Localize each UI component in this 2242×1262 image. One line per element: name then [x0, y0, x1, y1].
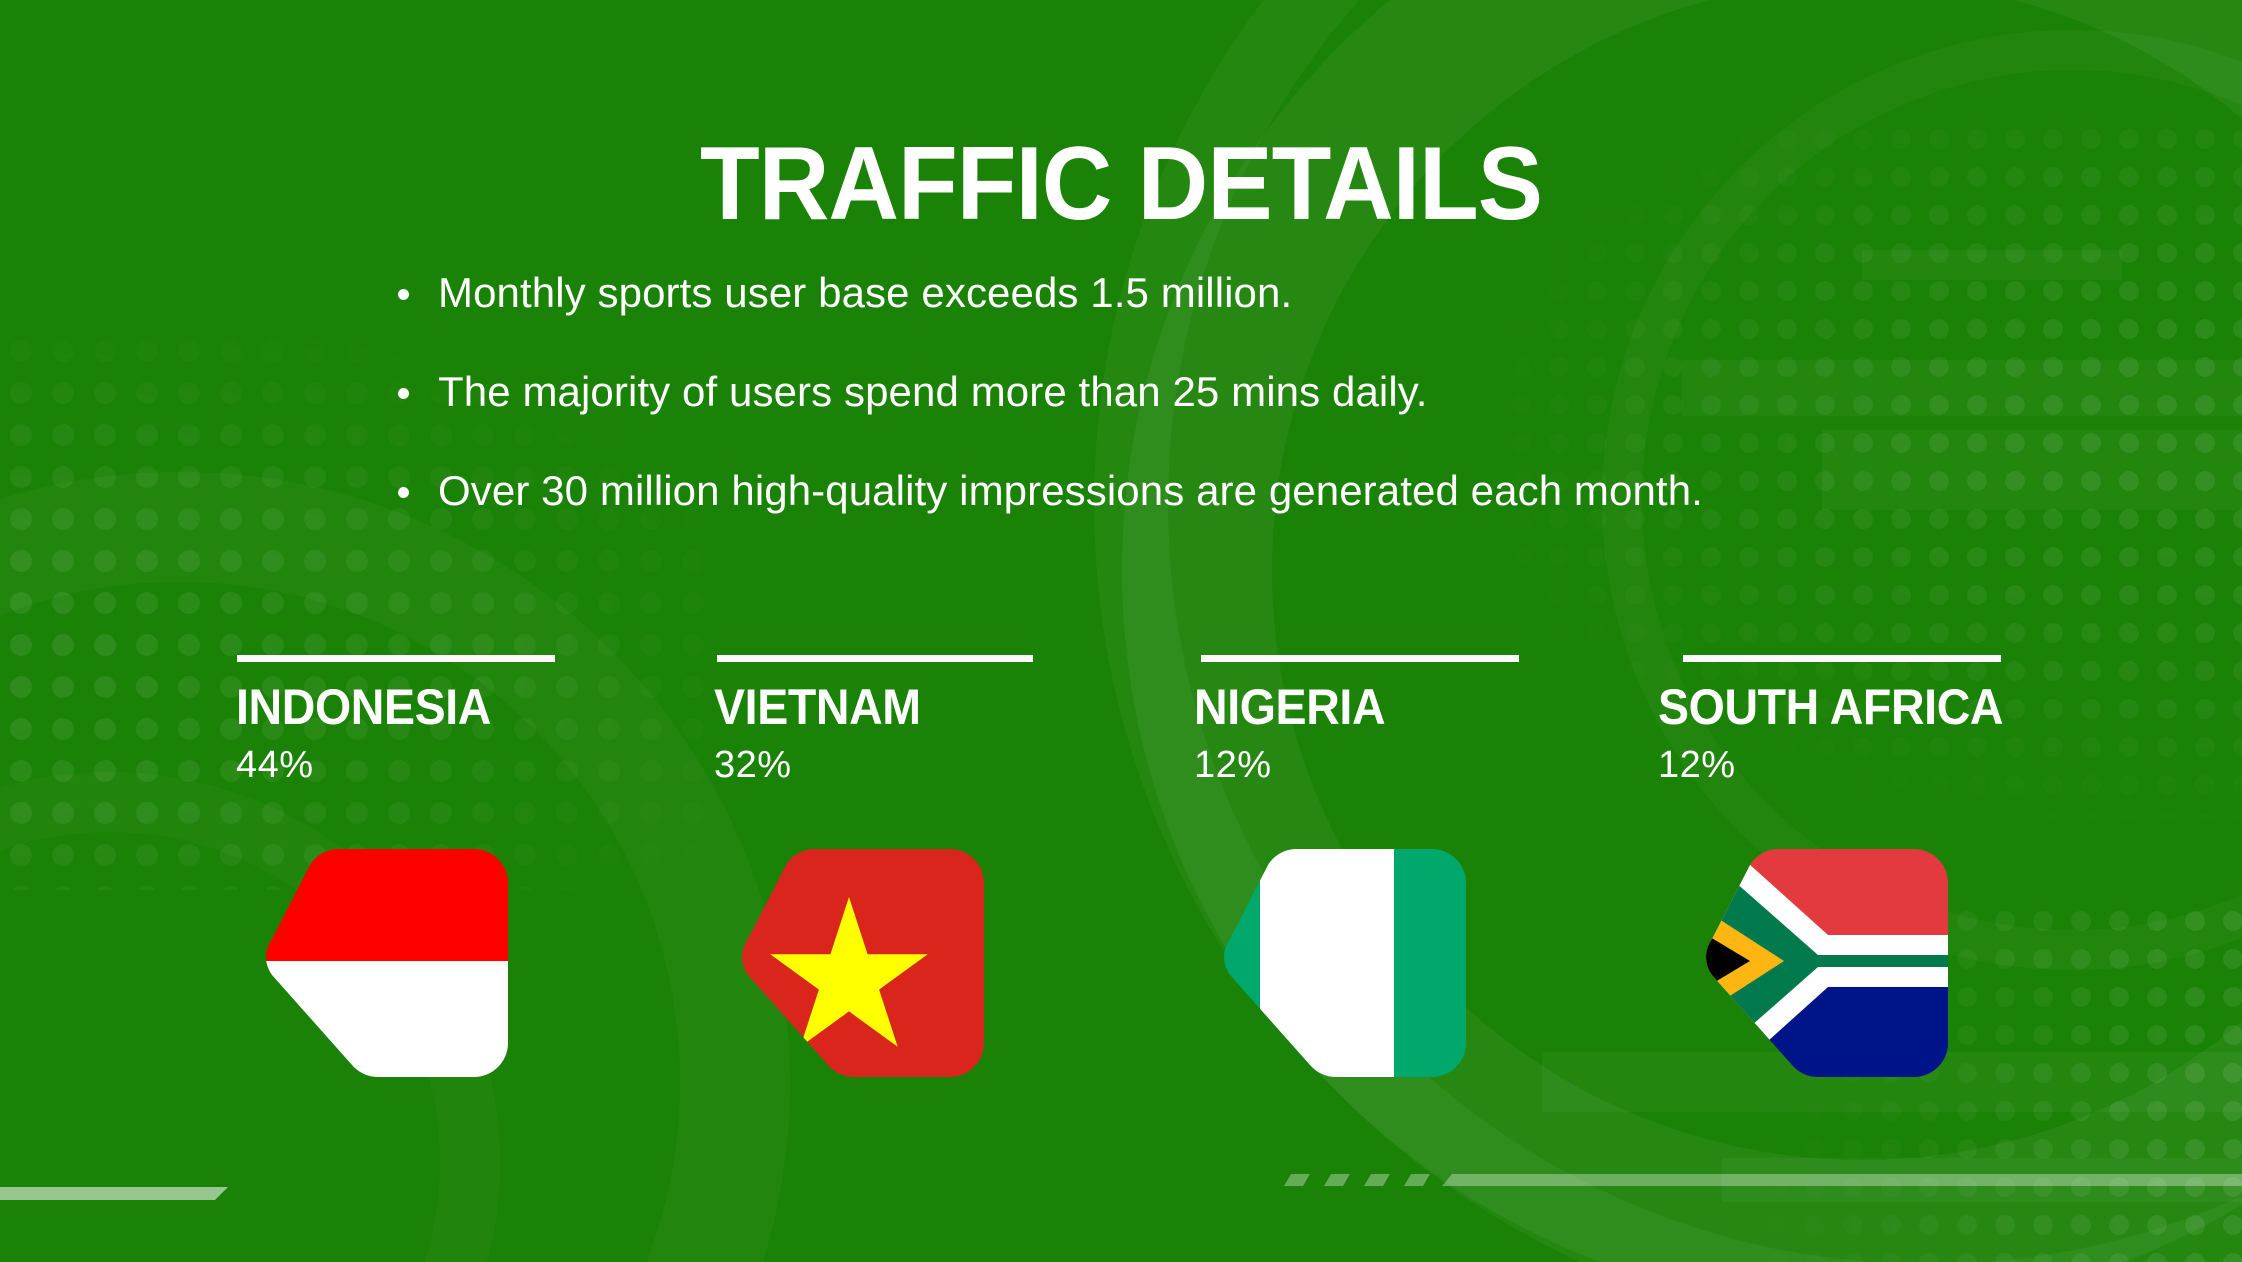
country-stat-indonesia: INDONESIA 44%: [236, 655, 706, 784]
slide-canvas: TRAFFIC DETAILS Monthly sports user base…: [0, 0, 2242, 1262]
list-item: The majority of users spend more than 25…: [392, 371, 1952, 413]
country-stat-south-africa: SOUTH AFRICA 12%: [1658, 655, 2128, 784]
list-item: Over 30 million high-quality impressions…: [392, 470, 1952, 512]
country-name: INDONESIA: [236, 682, 673, 732]
country-divider-rule: [1683, 655, 2001, 662]
country-divider-rule: [237, 655, 555, 662]
flag-nigeria-icon: [1218, 845, 1466, 1077]
page-title: TRAFFIC DETAILS: [67, 132, 2174, 236]
bullet-list: Monthly sports user base exceeds 1.5 mil…: [392, 272, 1952, 569]
country-percentage: 12%: [1194, 746, 1664, 784]
slide-content: TRAFFIC DETAILS Monthly sports user base…: [0, 0, 2242, 1262]
country-stats-group: INDONESIA 44%: [0, 655, 2242, 1155]
country-percentage: 12%: [1658, 746, 2128, 784]
country-name: NIGERIA: [1194, 682, 1631, 732]
country-percentage: 44%: [236, 746, 706, 784]
country-stat-nigeria: NIGERIA 12%: [1194, 655, 1664, 784]
country-name: SOUTH AFRICA: [1658, 682, 2095, 732]
flag-indonesia-icon: [260, 845, 508, 1077]
flag-south-africa-icon: [1700, 845, 1948, 1077]
flag-vietnam-icon: [736, 845, 984, 1077]
country-percentage: 32%: [714, 746, 1184, 784]
country-name: VIETNAM: [714, 682, 1151, 732]
list-item: Monthly sports user base exceeds 1.5 mil…: [392, 272, 1952, 314]
country-divider-rule: [1201, 655, 1519, 662]
country-divider-rule: [717, 655, 1033, 662]
country-stat-vietnam: VIETNAM 32%: [714, 655, 1184, 784]
